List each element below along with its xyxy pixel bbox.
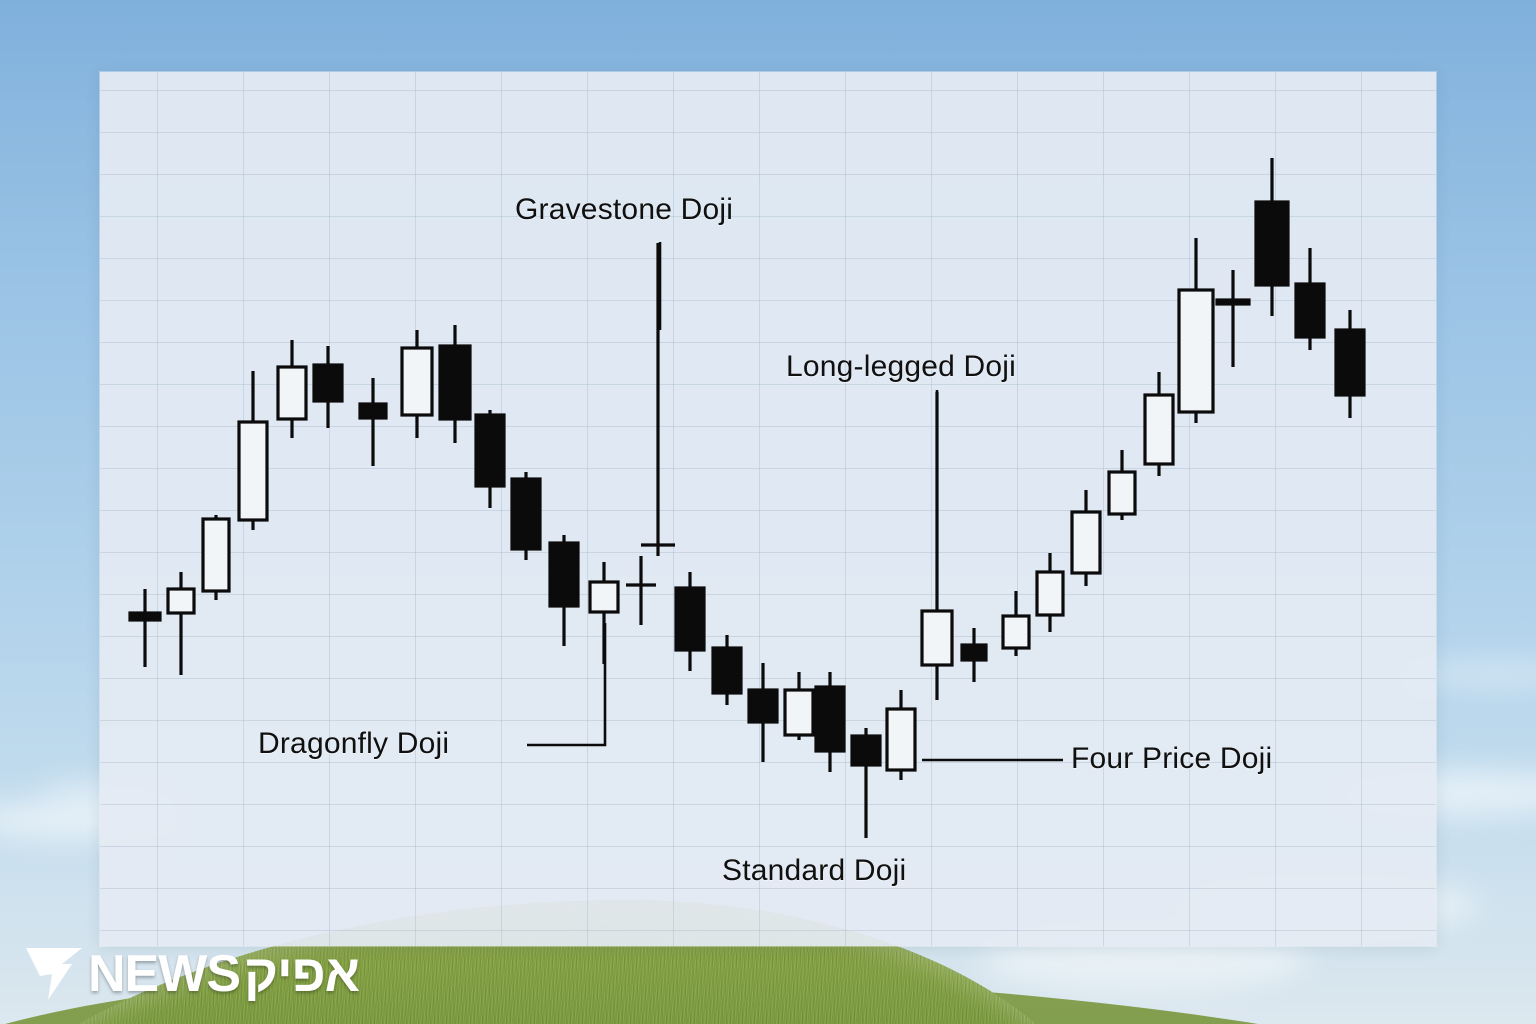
candle (1037, 553, 1063, 632)
candle (749, 663, 777, 762)
candle (314, 346, 342, 428)
candle (676, 572, 704, 671)
logo-text-hebrew: אפיק (244, 948, 359, 1000)
candle (1003, 591, 1029, 656)
candle (360, 378, 386, 466)
annotation-leader-lines (527, 242, 1063, 838)
candle (550, 535, 578, 646)
candle (278, 340, 306, 438)
candle (887, 690, 915, 780)
annotation-label-long-legged-doji: Long-legged Doji (786, 350, 1016, 384)
candle (1336, 310, 1364, 418)
candle (476, 410, 504, 508)
candle (402, 330, 432, 438)
candle (1109, 450, 1135, 520)
candle (1296, 248, 1324, 350)
screenshot-stage: Gravestone DojiLong-legged DojiDragonfly… (0, 0, 1536, 1024)
candle-cross-doji (626, 556, 656, 625)
candle (962, 628, 986, 682)
candle (816, 672, 844, 772)
annotation-label-gravestone-doji: Gravestone Doji (515, 193, 733, 227)
annotation-label-dragonfly-doji: Dragonfly Doji (258, 727, 449, 761)
candle (1256, 158, 1288, 316)
candle (239, 371, 267, 530)
brand-logo: NEWS אפיק (22, 936, 359, 1012)
candle (203, 515, 229, 600)
leader-line-dragonfly-doji (527, 623, 605, 745)
candle (1072, 490, 1100, 586)
candle (1145, 372, 1173, 476)
candle (785, 672, 813, 740)
candle-cross-doji (1217, 270, 1249, 367)
candle-doji-flat (130, 589, 160, 667)
candle (168, 572, 194, 675)
logo-text-english: NEWS (88, 948, 240, 1000)
candle (713, 635, 741, 705)
candle (1179, 238, 1213, 423)
candle (440, 325, 470, 443)
candlestick-chart (100, 72, 1436, 946)
candle (512, 472, 540, 560)
annotation-label-four-price-doji: Four Price Doji (1071, 742, 1272, 776)
chart-panel: Gravestone DojiLong-legged DojiDragonfly… (100, 72, 1436, 946)
annotation-label-standard-doji: Standard Doji (722, 854, 906, 888)
candle-gravestone-doji (641, 243, 675, 556)
arrow-flag-icon (22, 942, 86, 1006)
logo-wordmark: NEWS אפיק (88, 948, 359, 1000)
